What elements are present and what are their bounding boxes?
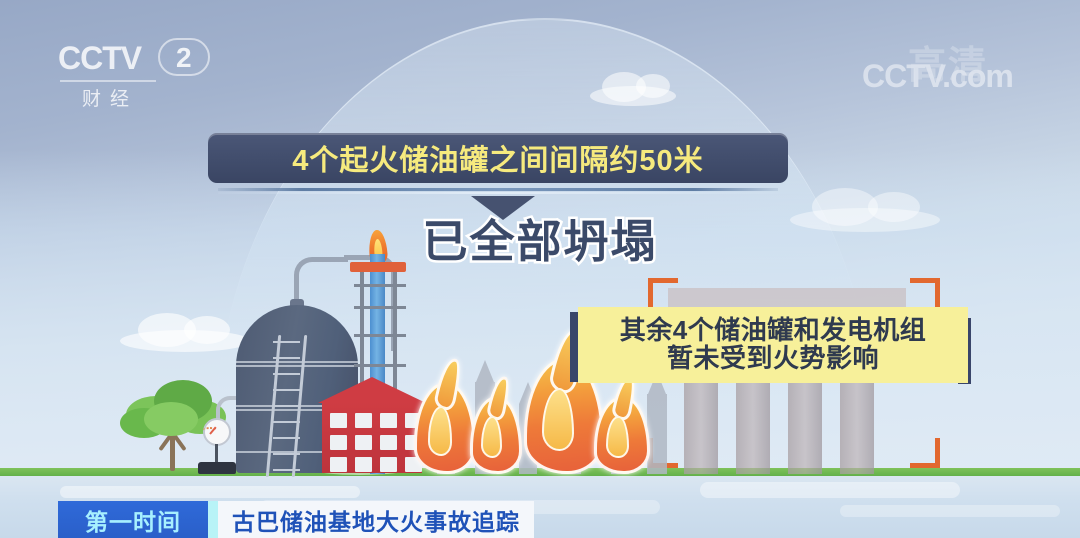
ladder-icon: [272, 335, 302, 477]
channel-logo-subtitle: 财经: [82, 84, 138, 111]
banner-underline-highlight: [218, 192, 778, 194]
highlight-bracket-top-right: [910, 278, 940, 308]
news-bar-separator: [208, 501, 218, 538]
channel-logo-word: CCTV: [58, 40, 141, 77]
wave-decoration: [840, 505, 1060, 517]
callout-line-1: 其余4个储油罐和发电机组: [620, 317, 926, 345]
program-name-tag: 第一时间: [58, 501, 208, 538]
pressure-gauge-icon: [196, 418, 238, 474]
headline-banner-text: 4个起火储油罐之间间隔约50米: [292, 137, 703, 179]
cloud-icon: [590, 86, 676, 106]
callout-line-2: 暂未受到火势影响: [667, 345, 879, 373]
news-headline-box: 古巴储油基地大火事故追踪: [218, 501, 534, 538]
factory-building-icon: [318, 377, 426, 473]
channel-logo-underline: [60, 80, 156, 82]
broadcast-frame: 4个起火储油罐之间间隔约50米 已全部坍塌 其余4个储油罐和发电机组 暂未受到火…: [0, 0, 1080, 538]
wave-decoration: [700, 482, 960, 498]
program-name-text: 第一时间: [85, 503, 181, 537]
wave-decoration: [60, 486, 360, 498]
fire-icon: [414, 382, 476, 474]
highlight-bracket-bottom-right: [910, 438, 940, 468]
news-ticker-bar: 第一时间 古巴储油基地大火事故追踪: [58, 501, 534, 538]
callout-box: 其余4个储油罐和发电机组 暂未受到火势影响: [578, 307, 968, 383]
cloud-icon: [120, 330, 250, 352]
news-headline-text: 古巴储油基地大火事故追踪: [232, 503, 520, 537]
headline-banner: 4个起火储油罐之间间隔约50米: [208, 133, 788, 183]
banner-underline: [218, 188, 778, 191]
fire-icon: [594, 396, 650, 474]
channel-logo-number: 2: [176, 42, 192, 74]
watermark: 高清 CCTV.com: [862, 38, 1062, 100]
watermark-domain-text: CCTV.com: [862, 58, 1013, 95]
channel-logo: CCTV 2 财经: [58, 40, 218, 108]
highlight-bracket-top-left: [648, 278, 678, 308]
subtitle-text: 已全部坍塌: [0, 205, 1080, 270]
fire-icon: [470, 396, 522, 474]
